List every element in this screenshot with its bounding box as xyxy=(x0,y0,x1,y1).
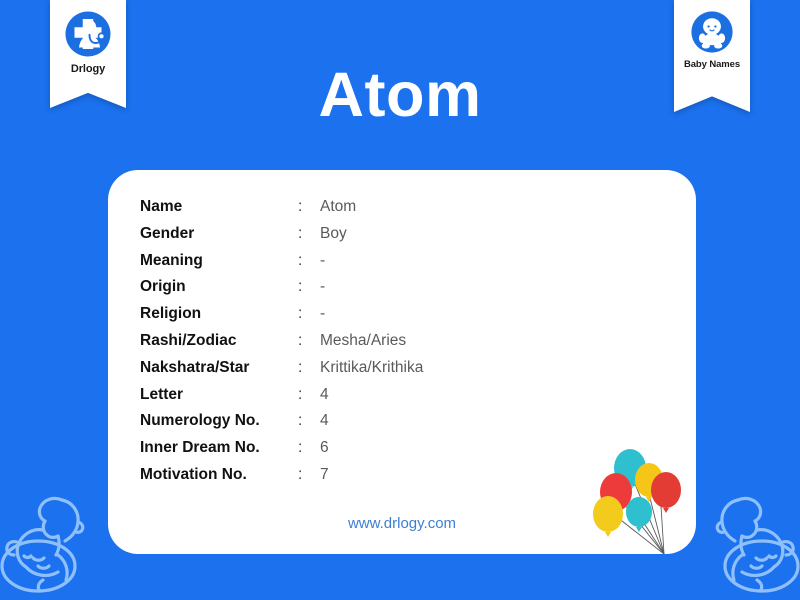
table-row: Motivation No. : 7 xyxy=(140,462,423,489)
table-row: Gender : Boy xyxy=(140,221,423,248)
row-value: Mesha/Aries xyxy=(320,328,423,355)
row-value: 4 xyxy=(320,408,423,435)
row-label: Motivation No. xyxy=(140,462,298,489)
row-value: - xyxy=(320,248,423,275)
row-separator: : xyxy=(298,274,320,301)
name-details-card: Name : Atom Gender : Boy Meaning : - Ori… xyxy=(108,170,696,554)
table-row: Religion : - xyxy=(140,301,423,328)
row-separator: : xyxy=(298,435,320,462)
row-value: 7 xyxy=(320,462,423,489)
mother-and-baby-icon xyxy=(0,470,108,600)
balloons-icon xyxy=(586,442,694,554)
row-value: 4 xyxy=(320,382,423,409)
table-row: Nakshatra/Star : Krittika/Krithika xyxy=(140,355,423,382)
row-separator: : xyxy=(298,194,320,221)
row-separator: : xyxy=(298,328,320,355)
table-row: Rashi/Zodiac : Mesha/Aries xyxy=(140,328,423,355)
row-separator: : xyxy=(298,301,320,328)
page-title: Atom xyxy=(0,64,800,127)
row-separator: : xyxy=(298,462,320,489)
row-value: Atom xyxy=(320,194,423,221)
table-row: Origin : - xyxy=(140,274,423,301)
row-value: - xyxy=(320,274,423,301)
row-label: Numerology No. xyxy=(140,408,298,435)
row-separator: : xyxy=(298,382,320,409)
row-label: Name xyxy=(140,194,298,221)
row-value: Krittika/Krithika xyxy=(320,355,423,382)
row-separator: : xyxy=(298,355,320,382)
row-label: Meaning xyxy=(140,248,298,275)
row-label: Inner Dream No. xyxy=(140,435,298,462)
doctor-cross-icon xyxy=(64,10,112,58)
table-row: Meaning : - xyxy=(140,248,423,275)
row-label: Origin xyxy=(140,274,298,301)
row-separator: : xyxy=(298,248,320,275)
row-value: 6 xyxy=(320,435,423,462)
row-value: Boy xyxy=(320,221,423,248)
baby-icon xyxy=(690,10,734,54)
table-row: Inner Dream No. : 6 xyxy=(140,435,423,462)
name-details-table: Name : Atom Gender : Boy Meaning : - Ori… xyxy=(140,194,423,489)
mother-and-baby-icon xyxy=(692,470,800,600)
row-label: Nakshatra/Star xyxy=(140,355,298,382)
table-row: Name : Atom xyxy=(140,194,423,221)
row-label: Rashi/Zodiac xyxy=(140,328,298,355)
table-row: Numerology No. : 4 xyxy=(140,408,423,435)
row-separator: : xyxy=(298,408,320,435)
row-label: Letter xyxy=(140,382,298,409)
row-label: Religion xyxy=(140,301,298,328)
table-row: Letter : 4 xyxy=(140,382,423,409)
row-label: Gender xyxy=(140,221,298,248)
row-separator: : xyxy=(298,221,320,248)
site-url-link[interactable]: www.drlogy.com xyxy=(108,515,696,532)
row-value: - xyxy=(320,301,423,328)
